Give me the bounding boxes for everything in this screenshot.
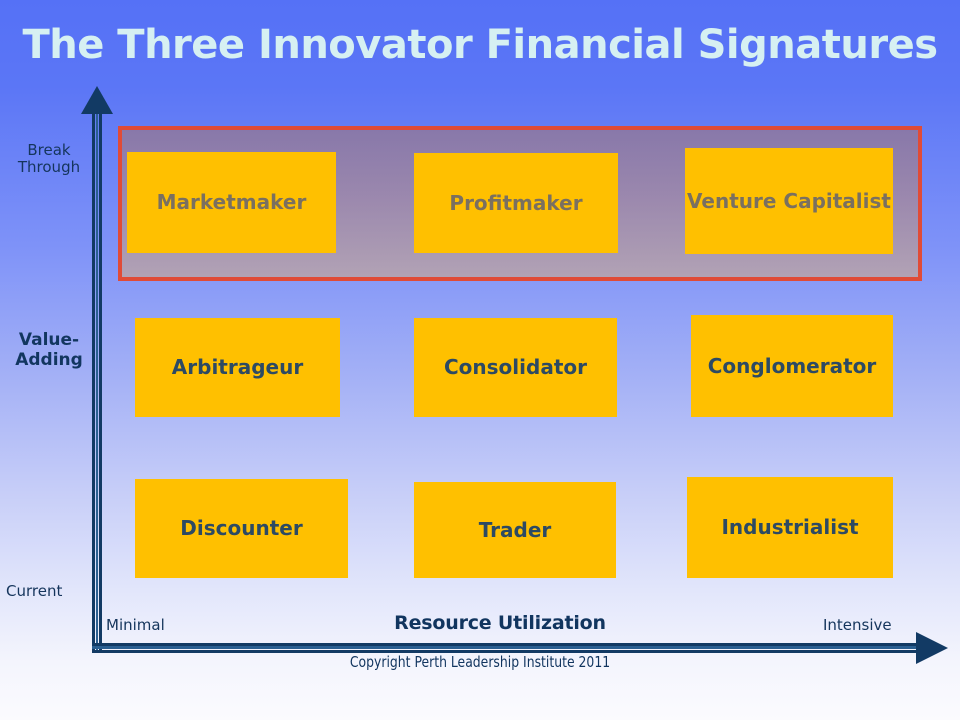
x-axis-line-mid <box>92 646 920 649</box>
y-axis-line-inner <box>99 110 102 650</box>
copyright-notice: Copyright Perth Leadership Institute 201… <box>38 653 921 671</box>
y-axis-arrow-icon <box>81 86 113 114</box>
y-axis-label-value-adding-line2: Adding <box>4 351 94 371</box>
cell-discounter[interactable]: Discounter <box>135 479 348 578</box>
y-axis-label-value-adding-line1: Value- <box>4 331 94 351</box>
y-axis-line-mid <box>96 110 98 650</box>
cell-arbitrageur[interactable]: Arbitrageur <box>135 318 340 417</box>
y-axis-label-current: Current <box>6 583 62 600</box>
cell-venture-capitalist[interactable]: Venture Capitalist <box>685 148 893 254</box>
cell-industrialist[interactable]: Industrialist <box>687 477 893 578</box>
cell-conglomerator[interactable]: Conglomerator <box>691 315 893 417</box>
y-axis-label-break-through-line1: Break <box>8 142 90 159</box>
y-axis-label-value-adding: Value- Adding <box>4 331 94 370</box>
page-title: The Three Innovator Financial Signatures <box>0 22 960 68</box>
cell-trader[interactable]: Trader <box>414 482 616 578</box>
cell-consolidator[interactable]: Consolidator <box>414 318 617 417</box>
x-axis-label-minimal: Minimal <box>106 617 165 634</box>
cell-marketmaker[interactable]: Marketmaker <box>127 152 336 253</box>
x-axis-label-intensive: Intensive <box>823 617 892 634</box>
slide-canvas: The Three Innovator Financial Signatures… <box>0 0 960 720</box>
cell-profitmaker[interactable]: Profitmaker <box>414 153 618 253</box>
y-axis-line-outer <box>92 110 95 650</box>
y-axis-label-break-through: Break Through <box>8 142 90 177</box>
y-axis-label-break-through-line2: Through <box>8 159 90 176</box>
x-axis-title: Resource Utilization <box>330 613 670 635</box>
